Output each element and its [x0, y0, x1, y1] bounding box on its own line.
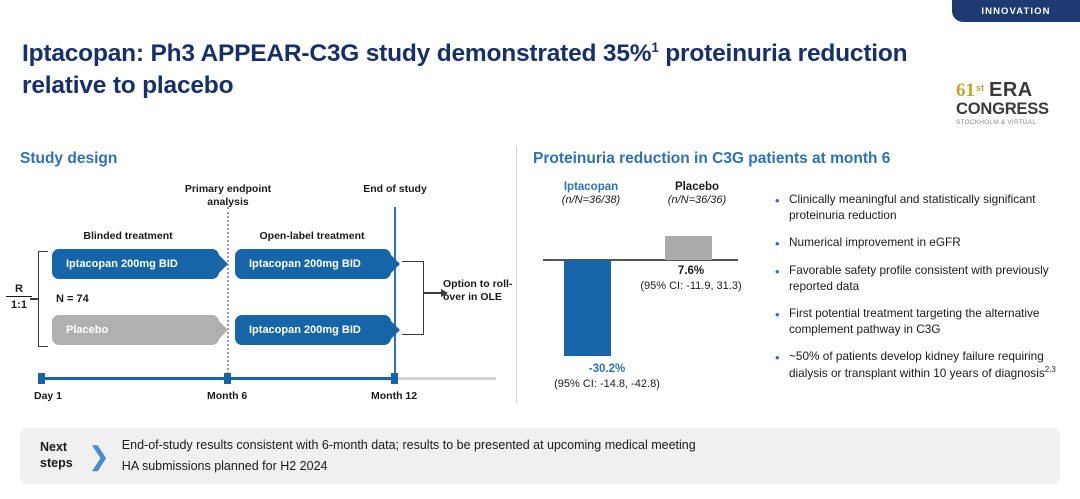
chart-heading: Proteinuria reduction in C3G patients at…	[533, 150, 890, 168]
rollover-label: Option to roll-over in OLE	[443, 278, 513, 305]
chevron-right-icon: ❯	[86, 443, 122, 469]
list-item: • Favorable safety profile consistent wi…	[775, 263, 1065, 295]
era-logo-subtitle: STOCKHOLM & VIRTUAL	[956, 120, 1036, 127]
chart-series-n-placebo: (n/N=36/36)	[642, 194, 752, 208]
rollover-bracket	[402, 261, 424, 335]
randomization-r: R	[6, 283, 32, 297]
month6-marker-line	[227, 207, 229, 374]
next-steps-label-line2: steps	[40, 456, 86, 472]
bar-open-label-top-label: Iptacopan 200mg BID	[249, 258, 361, 270]
citation-superscript: 2,3	[1045, 365, 1056, 374]
chart-value-iptacopan: -30.2% (95% CI: -14.8, -42.8)	[512, 362, 702, 391]
timeline-label-month12: Month 12	[371, 390, 417, 402]
chart-value-pct-placebo: 7.6%	[616, 264, 766, 279]
bullet-dot-icon: •	[775, 306, 781, 338]
page-title-part1: Iptacopan: Ph3 APPEAR-C3G study demonstr…	[22, 40, 651, 67]
chart-series-n-iptacopan: (n/N=36/38)	[536, 194, 646, 208]
randomization-label: R 1:1	[6, 283, 32, 311]
chart-series-name-placebo: Placebo	[642, 180, 752, 194]
proteinuria-bar-chart: Iptacopan (n/N=36/38) Placebo (n/N=36/36…	[520, 180, 770, 405]
timeline-tick-day1	[38, 373, 45, 384]
list-item: • First potential treatment targeting th…	[775, 306, 1065, 338]
bar-blinded-placebo-label: Placebo	[66, 324, 108, 336]
next-steps-label: Next steps	[20, 440, 86, 471]
key-findings-list: • Clinically meaningful and statisticall…	[775, 192, 1065, 393]
chart-ci-placebo: (95% CI: -11.9, 31.3)	[616, 279, 766, 293]
era-logo-row: 61 st ERA	[956, 80, 1033, 100]
chart-value-pct-iptacopan: -30.2%	[512, 362, 702, 377]
page-title: Iptacopan: Ph3 APPEAR-C3G study demonstr…	[22, 38, 922, 102]
chart-column-header-placebo: Placebo (n/N=36/36)	[642, 180, 752, 208]
list-item: • Numerical improvement in eGFR	[775, 235, 1065, 253]
bar-open-label-top: Iptacopan 200mg BID	[235, 249, 391, 279]
innovation-badge-label: INNOVATION	[981, 6, 1050, 17]
list-item-text-last: ~50% of patients develop kidney failure …	[789, 349, 1065, 382]
list-item-text: Clinically meaningful and statistically …	[789, 192, 1065, 224]
era-logo-congress: CONGRESS	[956, 101, 1049, 118]
bullet-dot-icon: •	[775, 349, 781, 382]
next-steps-body: End-of-study results consistent with 6-m…	[122, 435, 696, 476]
rollover-arrow-icon	[424, 292, 442, 294]
era-logo-era: ERA	[989, 80, 1033, 100]
bar-open-label-bottom-label: Iptacopan 200mg BID	[249, 324, 361, 336]
next-steps-label-line1: Next	[40, 440, 86, 456]
list-item: • Clinically meaningful and statisticall…	[775, 192, 1065, 224]
chart-bar-iptacopan	[564, 260, 611, 356]
bar-open-label-bottom: Iptacopan 200mg BID	[235, 315, 391, 345]
next-steps-banner: Next steps ❯ End-of-study results consis…	[20, 428, 1060, 484]
chart-bar-placebo	[665, 236, 712, 260]
timeline-inactive-segment	[395, 377, 496, 380]
study-design-diagram: Primary endpoint analysis End of study B…	[0, 175, 516, 405]
chart-series-name-iptacopan: Iptacopan	[536, 180, 646, 194]
bar-blinded-iptacopan: Iptacopan 200mg BID	[52, 249, 219, 279]
month12-marker-line	[394, 207, 396, 374]
bullet-dot-icon: •	[775, 235, 781, 253]
era-congress-logo: 61 st ERA CONGRESS STOCKHOLM & VIRTUAL	[956, 80, 1052, 132]
list-item-text: Numerical improvement in eGFR	[789, 235, 961, 253]
timeline-tick-month6	[224, 373, 231, 384]
innovation-badge: INNOVATION	[952, 0, 1080, 22]
bar-blinded-placebo: Placebo	[52, 315, 219, 345]
chart-column-header-iptacopan: Iptacopan (n/N=36/38)	[536, 180, 646, 208]
blinded-treatment-label: Blinded treatment	[48, 230, 208, 243]
end-of-study-label: End of study	[355, 183, 435, 196]
randomization-ratio: 1:1	[6, 299, 32, 311]
bullet-dot-icon: •	[775, 263, 781, 295]
page-title-superscript: 1	[651, 40, 658, 55]
primary-endpoint-label: Primary endpoint analysis	[168, 183, 288, 208]
era-logo-number: 61	[956, 81, 975, 100]
total-n-label: N = 74	[56, 293, 89, 305]
next-steps-line1: End-of-study results consistent with 6-m…	[122, 435, 696, 456]
open-label-treatment-label: Open-label treatment	[232, 230, 392, 243]
study-design-heading: Study design	[20, 150, 117, 168]
next-steps-line2: HA submissions planned for H2 2024	[122, 456, 696, 477]
timeline-label-month6: Month 6	[207, 390, 247, 402]
list-item: • ~50% of patients develop kidney failur…	[775, 349, 1065, 382]
list-item-text: Favorable safety profile consistent with…	[789, 263, 1065, 295]
bullet-dot-icon: •	[775, 192, 781, 224]
randomization-bracket	[38, 251, 48, 347]
era-logo-ordinal: st	[976, 84, 984, 93]
timeline-active-segment	[40, 377, 395, 380]
slide: INNOVATION Iptacopan: Ph3 APPEAR-C3G stu…	[0, 0, 1080, 499]
list-item-text: First potential treatment targeting the …	[789, 306, 1065, 338]
timeline-tick-month12	[391, 373, 398, 384]
chart-ci-iptacopan: (95% CI: -14.8, -42.8)	[512, 377, 702, 391]
chart-value-placebo: 7.6% (95% CI: -11.9, 31.3)	[616, 264, 766, 293]
list-item-text: ~50% of patients develop kidney failure …	[789, 349, 1045, 380]
bar-blinded-iptacopan-label: Iptacopan 200mg BID	[66, 258, 178, 270]
timeline-label-day1: Day 1	[34, 390, 62, 402]
